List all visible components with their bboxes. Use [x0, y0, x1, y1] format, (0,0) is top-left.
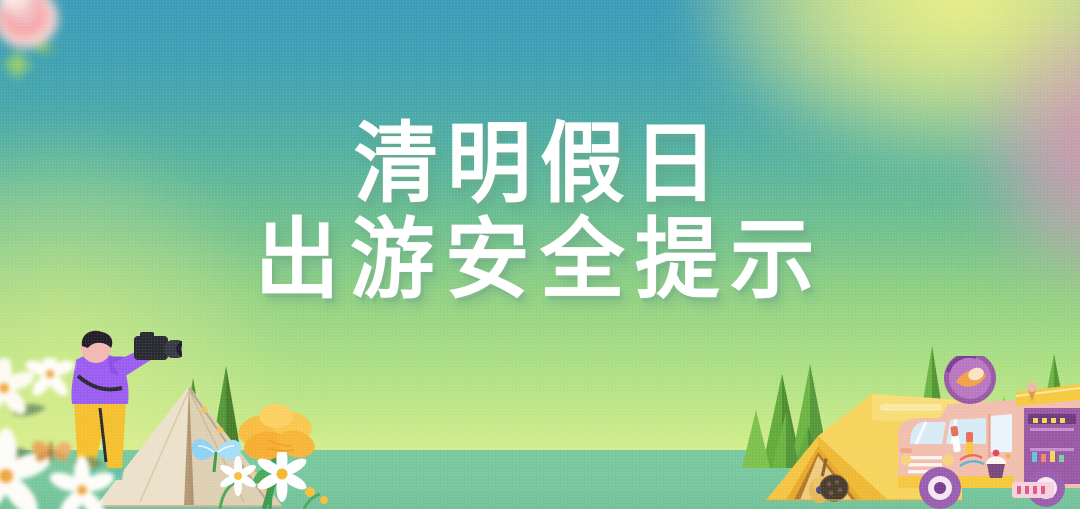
holiday-safety-banner: 清明假日 出游安全提示 — [0, 0, 1080, 509]
banner-title-line-2: 出游安全提示 — [22, 212, 1059, 308]
white-daisy-cluster-icon — [208, 452, 338, 509]
white-narcissus-cluster-icon — [0, 358, 176, 509]
banner-title-block: 清明假日 出游安全提示 — [0, 116, 1080, 308]
banner-title-line-1: 清明假日 — [22, 116, 1059, 212]
truck-side-sign-icon — [1010, 478, 1058, 509]
orange-butterfly-icon — [28, 432, 76, 470]
